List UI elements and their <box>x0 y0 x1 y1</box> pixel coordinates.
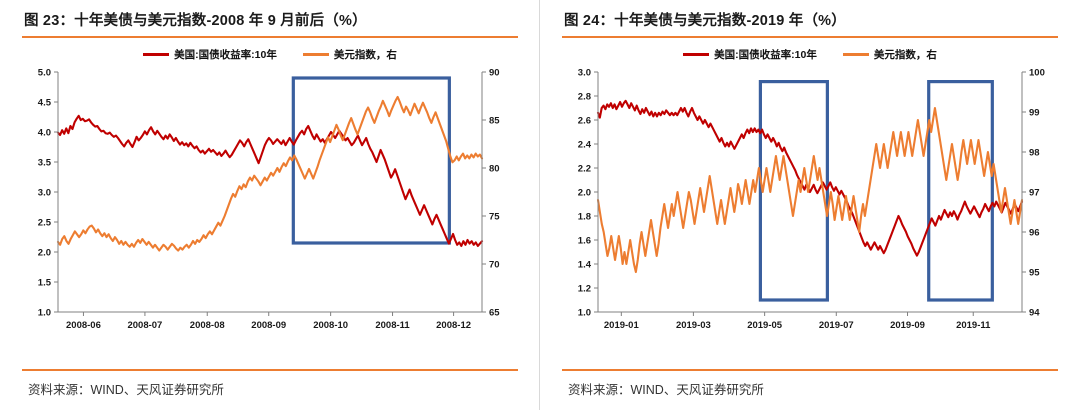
line-chart-fig24[interactable]: 1.01.21.41.61.82.02.22.42.62.83.09495969… <box>558 64 1062 336</box>
source-note-fig24: 资料来源：WIND、天风证券研究所 <box>568 379 764 398</box>
chart-legend-fig24: 美国:国债收益率:10年 美元指数，右 <box>558 46 1062 62</box>
right-tick-label: 98 <box>1029 147 1040 158</box>
legend-item-dxy[interactable]: 美元指数，右 <box>303 47 397 62</box>
x-tick-label: 2008-11 <box>375 320 410 331</box>
source-rule-fig24 <box>562 369 1058 371</box>
right-tick-label: 95 <box>1029 267 1040 278</box>
left-tick-label: 3.5 <box>38 157 52 168</box>
left-tick-label: 1.5 <box>38 277 52 288</box>
left-tick-label: 1.4 <box>578 259 592 270</box>
left-tick-label: 1.6 <box>578 235 591 246</box>
left-tick-label: 2.4 <box>578 139 592 150</box>
x-tick-label: 2008-12 <box>436 320 471 331</box>
figure-panel-24: 图 24：十年美债与美元指数-2019 年（%） 美国:国债收益率:10年 美元… <box>540 0 1080 410</box>
left-tick-label: 4.0 <box>38 127 51 138</box>
left-tick-label: 3.0 <box>578 67 591 78</box>
line-chart-fig23[interactable]: 1.01.52.02.53.03.54.04.55.06570758085902… <box>18 64 522 336</box>
series-line-dxy <box>58 97 482 251</box>
legend-label-dxy: 美元指数，右 <box>334 47 397 62</box>
left-tick-label: 2.0 <box>578 187 591 198</box>
right-tick-label: 96 <box>1029 227 1040 238</box>
x-tick-label: 2019-01 <box>604 320 640 331</box>
legend-label-dxy: 美元指数，右 <box>874 47 937 62</box>
x-tick-label: 2019-09 <box>890 320 925 331</box>
x-tick-label: 2019-05 <box>747 320 783 331</box>
legend-item-us-10y[interactable]: 美国:国债收益率:10年 <box>143 47 277 62</box>
chart-area-fig23: 1.01.52.02.53.03.54.04.55.06570758085902… <box>18 64 522 336</box>
figure-panel-23: 图 23：十年美债与美元指数-2008 年 9 月前后（%） 美国:国债收益率:… <box>0 0 540 410</box>
right-tick-label: 75 <box>489 211 500 222</box>
right-tick-label: 94 <box>1029 307 1040 318</box>
left-tick-label: 2.6 <box>578 115 591 126</box>
left-tick-label: 1.2 <box>578 283 591 294</box>
left-tick-label: 5.0 <box>38 67 51 78</box>
x-tick-label: 2019-03 <box>676 320 711 331</box>
left-tick-label: 1.0 <box>578 307 591 318</box>
highlight-box-2 <box>929 82 993 300</box>
left-tick-label: 2.5 <box>38 217 52 228</box>
x-tick-label: 2019-11 <box>956 320 991 331</box>
page-title-fig24: 图 24：十年美债与美元指数-2019 年（%） <box>558 0 1062 30</box>
legend-label-us-10y: 美国:国债收益率:10年 <box>714 47 817 62</box>
right-tick-label: 65 <box>489 307 500 318</box>
right-tick-label: 85 <box>489 115 500 126</box>
legend-label-us-10y: 美国:国债收益率:10年 <box>174 47 277 62</box>
legend-swatch-orange <box>303 53 329 56</box>
legend-swatch-red <box>683 53 709 56</box>
title-rule-fig23 <box>22 36 518 38</box>
legend-swatch-red <box>143 53 169 56</box>
title-rule-fig24 <box>562 36 1058 38</box>
legend-item-us-10y[interactable]: 美国:国债收益率:10年 <box>683 47 817 62</box>
left-tick-label: 2.8 <box>578 91 591 102</box>
x-tick-label: 2019-07 <box>819 320 854 331</box>
right-tick-label: 90 <box>489 67 500 78</box>
chart-legend-fig23: 美国:国债收益率:10年 美元指数，右 <box>18 46 522 62</box>
right-tick-label: 80 <box>489 163 500 174</box>
left-tick-label: 3.0 <box>38 187 51 198</box>
highlight-box-1 <box>293 78 449 243</box>
chart-area-fig24: 1.01.21.41.61.82.02.22.42.62.83.09495969… <box>558 64 1062 336</box>
left-tick-label: 2.2 <box>578 163 591 174</box>
left-tick-label: 2.0 <box>38 247 51 258</box>
page-title-fig23: 图 23：十年美债与美元指数-2008 年 9 月前后（%） <box>18 0 522 30</box>
right-tick-label: 97 <box>1029 187 1040 198</box>
left-tick-label: 1.0 <box>38 307 51 318</box>
x-tick-label: 2008-07 <box>127 320 162 331</box>
right-tick-label: 100 <box>1029 67 1045 78</box>
left-tick-label: 1.8 <box>578 211 591 222</box>
x-tick-label: 2008-09 <box>251 320 286 331</box>
source-note-fig23: 资料来源：WIND、天风证券研究所 <box>28 379 224 398</box>
legend-swatch-orange <box>843 53 869 56</box>
legend-item-dxy[interactable]: 美元指数，右 <box>843 47 937 62</box>
x-tick-label: 2008-08 <box>190 320 225 331</box>
source-rule-fig23 <box>22 369 518 371</box>
x-tick-label: 2008-06 <box>66 320 101 331</box>
right-tick-label: 70 <box>489 259 500 270</box>
left-tick-label: 4.5 <box>38 97 52 108</box>
series-line-us-10y <box>58 116 482 246</box>
x-tick-label: 2008-10 <box>313 320 348 331</box>
figure-pair-page: 图 23：十年美债与美元指数-2008 年 9 月前后（%） 美国:国债收益率:… <box>0 0 1080 410</box>
right-tick-label: 99 <box>1029 107 1040 118</box>
